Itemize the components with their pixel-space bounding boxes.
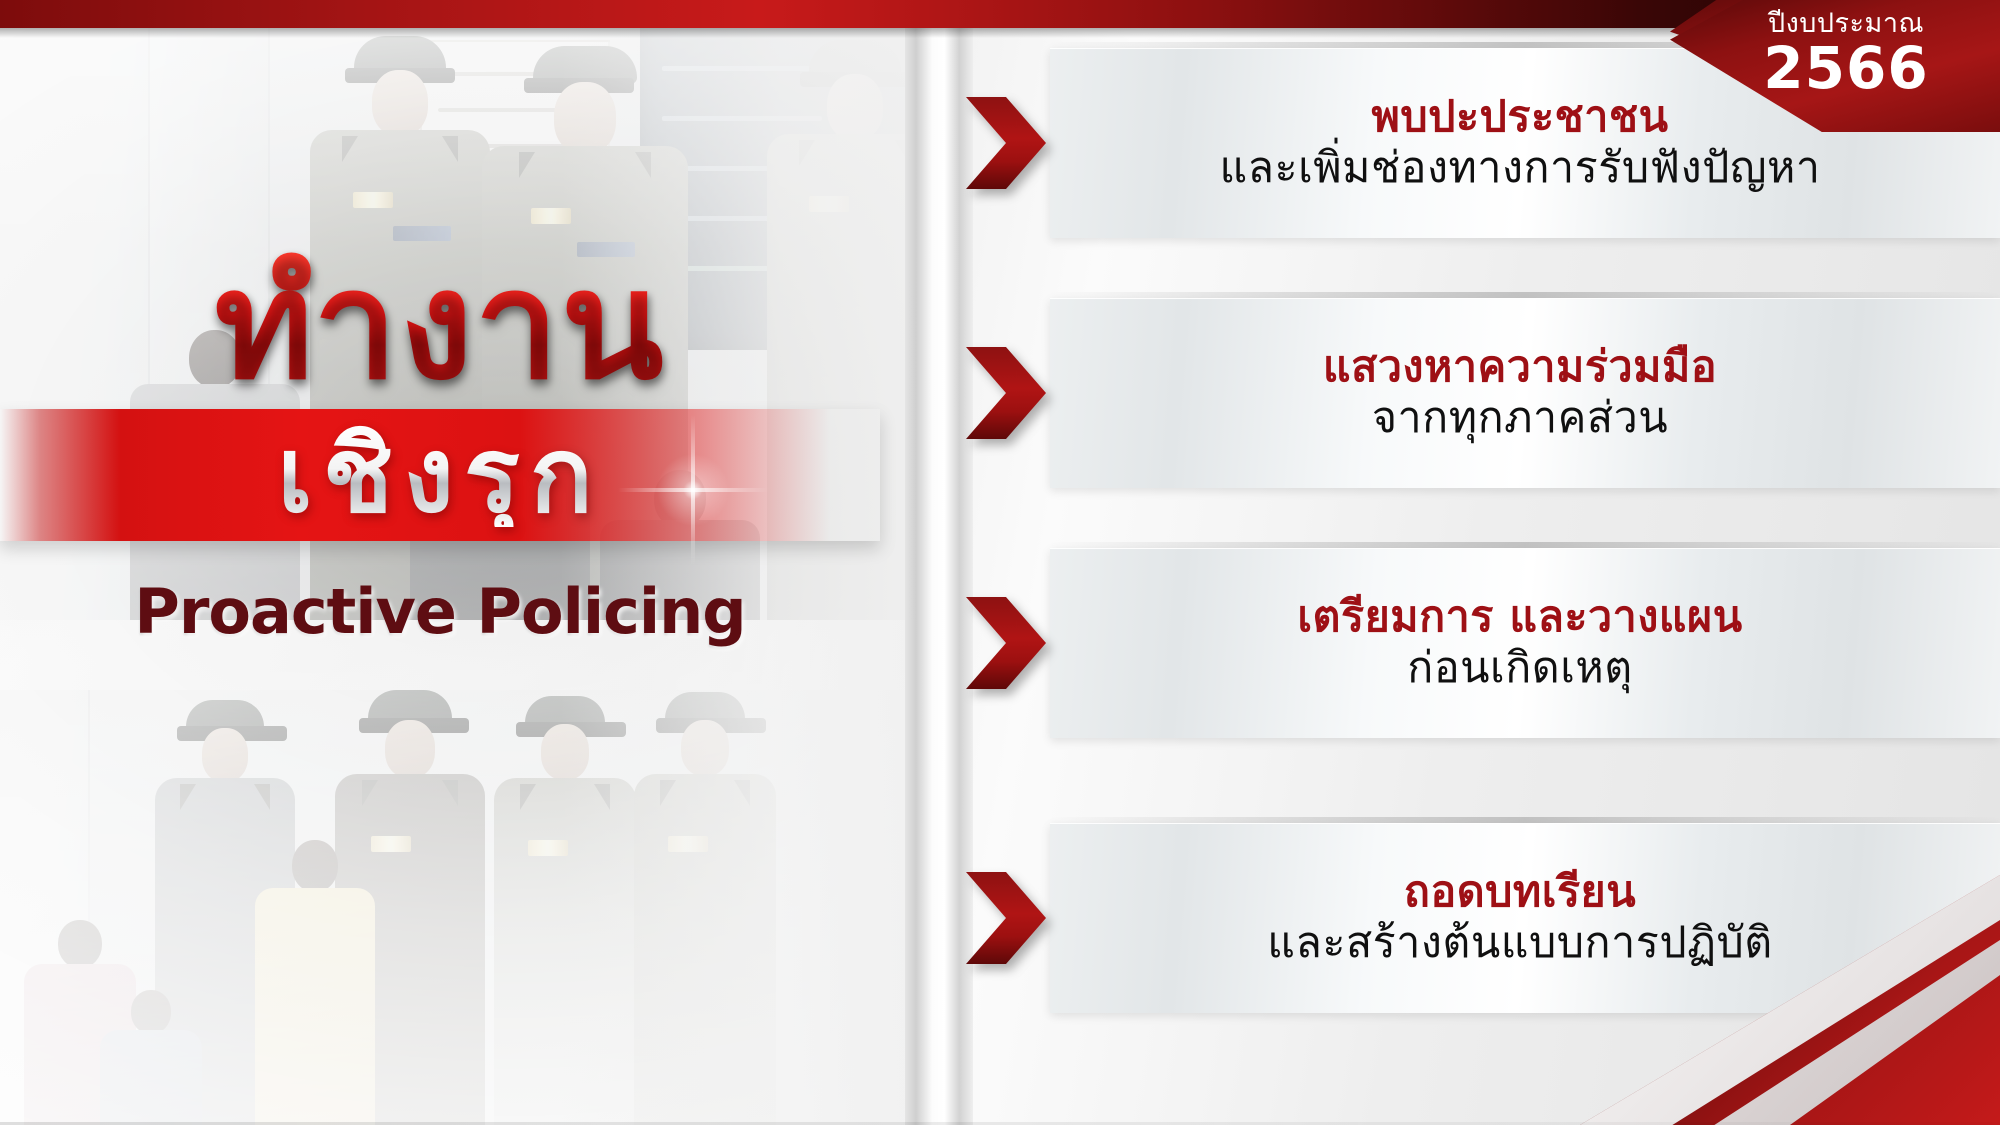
list-item-detail: และเพิ่มช่องทางการรับฟังปัญหา	[1060, 143, 1980, 195]
civilian-figure	[96, 990, 206, 1125]
list-item[interactable]: เตรียมการ และวางแผน ก่อนเกิดเหตุ	[960, 540, 2000, 746]
list-item[interactable]: ถอดบทเรียน และสร้างต้นแบบการปฏิบัติ	[960, 815, 2000, 1021]
list-item-detail: ก่อนเกิดเหตุ	[1060, 643, 1980, 695]
list-item-heading: ถอดบทเรียน	[1060, 867, 1980, 918]
list-item-text: เตรียมการ และวางแผน ก่อนเกิดเหตุ	[960, 592, 2000, 694]
list-item-text: แสวงหาความร่วมมือ จากทุกภาคส่วน	[960, 342, 2000, 444]
page-title-english: Proactive Policing	[0, 575, 880, 648]
sparkle-icon	[618, 415, 768, 565]
list-item-detail: และสร้างต้นแบบการปฏิบัติ	[1060, 918, 1980, 970]
list-item-heading: แสวงหาความร่วมมือ	[1060, 342, 1980, 393]
page-title-thai: ทำงาน	[0, 250, 880, 403]
photo-bottom	[0, 690, 920, 1125]
chevron-right-icon	[960, 866, 1052, 970]
officer-figure	[490, 696, 640, 1125]
chevron-right-icon	[960, 591, 1052, 695]
title-block: ทำงาน เชิงรุก Proactive Policing	[0, 250, 880, 648]
photo-bottom-scene	[0, 690, 920, 1125]
chevron-right-icon	[960, 341, 1052, 445]
list-item[interactable]: แสวงหาความร่วมมือ จากทุกภาคส่วน	[960, 290, 2000, 496]
list-item-detail: จากทุกภาคส่วน	[1060, 393, 1980, 445]
infographic-poster: ทำงาน เชิงรุก Proactive Policing พบปะประ…	[0, 0, 2000, 1125]
title-red-bar: เชิงรุก	[0, 409, 880, 541]
officer-figure	[630, 692, 780, 1125]
list-item-text: ถอดบทเรียน และสร้างต้นแบบการปฏิบัติ	[960, 867, 2000, 969]
list-item-heading: เตรียมการ และวางแผน	[1060, 592, 1980, 643]
fiscal-year-badge: ปีงบประมาณ 2566	[1670, 0, 2000, 132]
fiscal-year-value: 2566	[1716, 38, 1976, 99]
fiscal-year-badge-text: ปีงบประมาณ 2566	[1716, 10, 1976, 99]
bullet-list: พบปะประชาชน และเพิ่มช่องทางการรับฟังปัญห…	[960, 0, 2000, 1125]
page-subtitle-thai: เชิงรุก	[277, 423, 603, 527]
chevron-right-icon	[960, 91, 1052, 195]
civilian-figure	[250, 840, 380, 1125]
